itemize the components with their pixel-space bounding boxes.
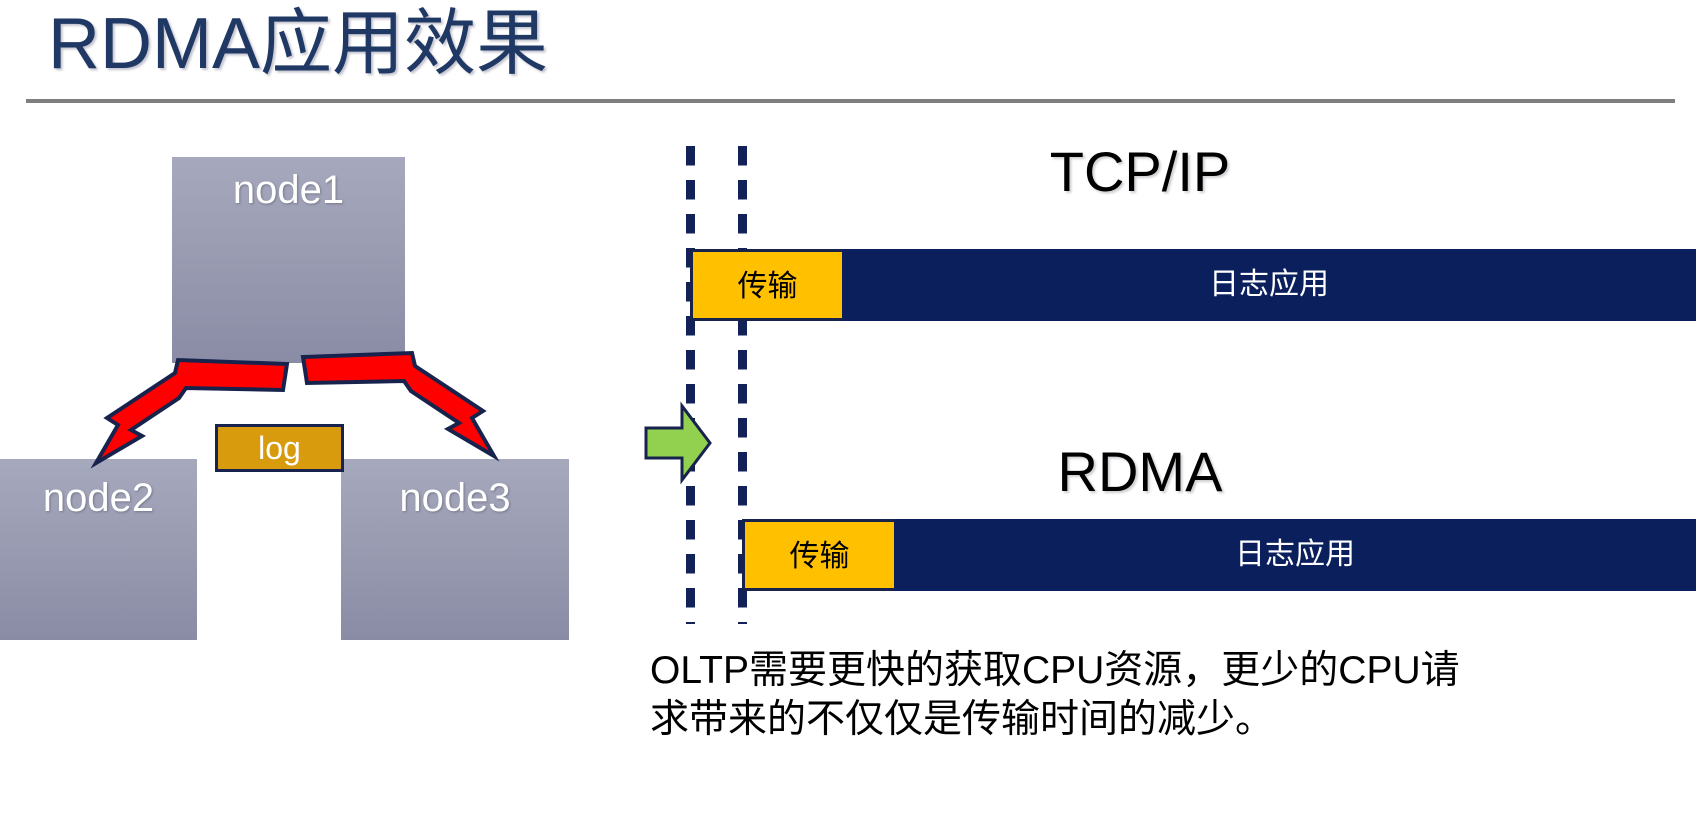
slide-canvas: RDMA应用效果 node1 node2 node3 log TCP/IP RD…: [0, 0, 1696, 826]
timing-bar-tcpip: 传输 日志应用: [690, 249, 1696, 321]
title-divider: [26, 99, 1675, 103]
bar-segment-label: 传输: [693, 252, 842, 322]
log-box-label: log: [218, 427, 341, 469]
page-title: RDMA应用效果: [48, 2, 548, 86]
caption-line-1: OLTP需要更快的获取CPU资源，更少的CPU请: [650, 646, 1690, 695]
bar-segment-transfer: 传输: [690, 249, 842, 321]
timing-bar-rdma: 传输 日志应用: [742, 519, 1696, 591]
log-box: log: [215, 424, 344, 472]
protocol-label-tcpip: TCP/IP: [880, 140, 1400, 204]
bar-segment-label: 日志应用: [845, 252, 1693, 318]
caption-text: OLTP需要更快的获取CPU资源，更少的CPU请 求带来的不仅仅是传输时间的减少…: [650, 646, 1690, 744]
shift-right-arrow-icon: [638, 400, 716, 486]
node-label: node1: [172, 167, 405, 213]
protocol-label-rdma: RDMA: [880, 440, 1400, 504]
node-box-node1: node1: [172, 157, 405, 363]
bar-segment-label: 传输: [745, 522, 894, 592]
bar-segment-label: 日志应用: [897, 522, 1693, 588]
guide-line-start: [686, 146, 695, 624]
bar-segment-application: 日志应用: [842, 249, 1696, 321]
bar-segment-transfer: 传输: [742, 519, 894, 591]
bar-segment-application: 日志应用: [894, 519, 1696, 591]
caption-line-2: 求带来的不仅仅是传输时间的减少。: [650, 695, 1690, 744]
